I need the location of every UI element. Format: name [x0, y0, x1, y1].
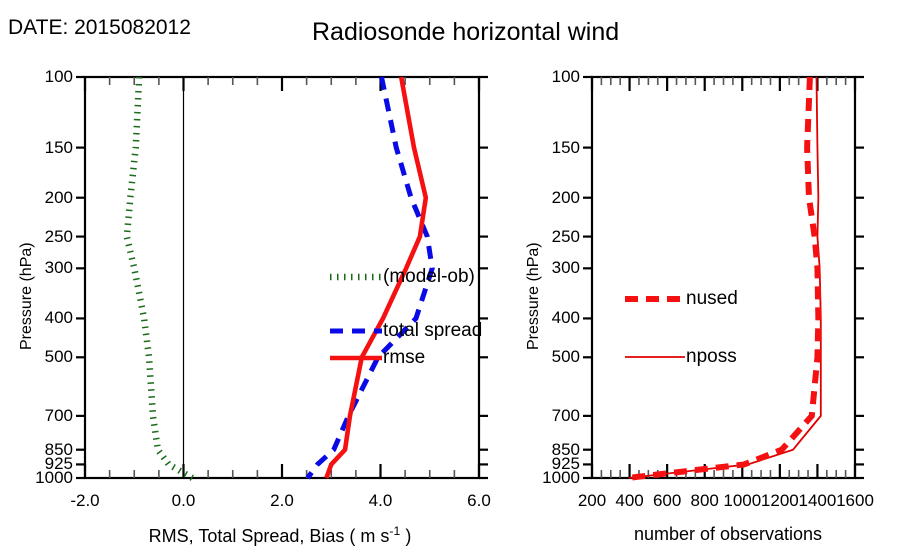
- left-panel-legend-label: total spread: [383, 320, 482, 342]
- left-panel-legend-label: (model-ob): [383, 266, 475, 288]
- left-panel-y-tick-label: 500: [0, 347, 73, 367]
- left-panel-y-tick-label: 200: [0, 188, 73, 208]
- series-nposs: [629, 77, 821, 478]
- left-panel-x-tick-label: 2.0: [242, 491, 322, 511]
- left-panel-y-tick-label: 1000: [0, 468, 73, 488]
- left-x-axis-title-tail: ): [400, 526, 411, 546]
- left-panel-y-tick-label: 150: [0, 138, 73, 158]
- left-panel-legend-swatch-icon: [330, 349, 382, 367]
- left-panel-legend-item[interactable]: rmse: [330, 347, 425, 369]
- left-panel-x-axis-title: RMS, Total Spread, Bias ( m s-1 ): [140, 524, 420, 547]
- left-x-axis-title-main: RMS, Total Spread, Bias ( m s: [149, 526, 390, 546]
- left-panel-y-tick-label: 300: [0, 258, 73, 278]
- left-panel-x-tick-label: 0.0: [144, 491, 224, 511]
- left-panel-x-tick-label: -2.0: [45, 491, 125, 511]
- left-panel-legend-swatch-icon: [330, 322, 382, 340]
- right-panel-legend-label: nused: [686, 288, 738, 310]
- left-panel-y-tick-label: 700: [0, 406, 73, 426]
- right-panel-legend-label: nposs: [686, 346, 737, 368]
- left-panel-legend-item[interactable]: total spread: [330, 320, 482, 342]
- right-panel-y-tick-label: 1000: [506, 468, 580, 488]
- left-panel-x-tick-label: 6.0: [439, 491, 519, 511]
- right-panel-y-tick-label: 300: [506, 258, 580, 278]
- right-panel-legend-item[interactable]: nposs: [625, 346, 737, 368]
- left-panel-y-tick-label: 400: [0, 308, 73, 328]
- right-panel-y-tick-label: 500: [506, 347, 580, 367]
- right-panel-legend-swatch-icon: [625, 348, 685, 366]
- left-panel-y-tick-label: 100: [0, 67, 73, 87]
- right-panel-y-tick-label: 250: [506, 227, 580, 247]
- figure-canvas: DATE: 2015082012 Radiosonde horizontal w…: [0, 0, 900, 560]
- right-panel-y-tick-label: 100: [506, 67, 580, 87]
- page-title: Radiosonde horizontal wind: [312, 18, 619, 47]
- right-panel-y-tick-label: 200: [506, 188, 580, 208]
- right-panel-y-tick-label: 400: [506, 308, 580, 328]
- right-panel-legend-swatch-icon: [625, 290, 685, 308]
- left-panel-y-tick-label: 250: [0, 227, 73, 247]
- left-panel-legend-swatch-icon: [330, 268, 382, 286]
- series-nused: [628, 77, 819, 478]
- right-panel-y-tick-label: 700: [506, 406, 580, 426]
- right-panel-legend-item[interactable]: nused: [625, 288, 738, 310]
- left-panel-x-tick-label: 4.0: [341, 491, 421, 511]
- left-panel-legend-item[interactable]: (model-ob): [330, 266, 475, 288]
- left-x-axis-title-exponent: -1: [389, 524, 400, 538]
- right-panel-y-tick-label: 150: [506, 138, 580, 158]
- series--model-ob-: [127, 77, 193, 478]
- right-panel-x-axis-title: number of observations: [588, 524, 868, 545]
- right-panel-x-tick-label: 1600: [815, 491, 895, 511]
- left-panel-legend-label: rmse: [383, 347, 425, 369]
- date-label: DATE: 2015082012: [8, 16, 191, 40]
